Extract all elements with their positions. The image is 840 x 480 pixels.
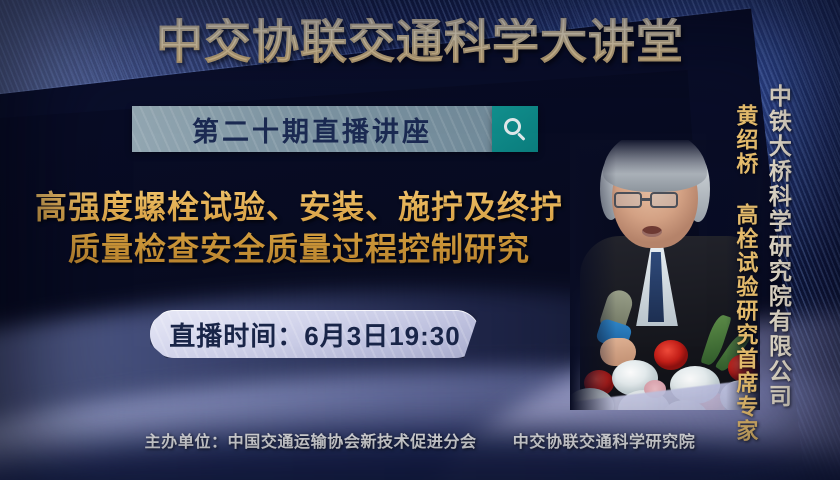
- speaker-photo: [570, 140, 760, 410]
- livestream-promo-poster: 中交协联交通科学大讲堂 第二十期直播讲座 高强度螺栓试验、安装、施拧及终拧 质量…: [0, 0, 840, 480]
- search-button[interactable]: [492, 106, 538, 152]
- organizer-prefix: 主办单位：中国交通运输协会新技术促进分会: [145, 434, 477, 451]
- headline-line-1: 高强度螺栓试验、安装、施拧及终拧: [35, 189, 563, 225]
- headline-line-2: 质量检查安全质量过程控制研究: [6, 228, 592, 270]
- speaker-name-role: 黄绍桥 高栓试验研究首席专家: [734, 104, 757, 443]
- organizer-suffix: 中交协联交通科学研究院: [513, 434, 696, 451]
- organizer-line: 主办单位：中国交通运输协会新技术促进分会 中交协联交通科学研究院: [0, 428, 840, 452]
- speaker-glasses-right: [650, 192, 678, 208]
- lecture-headline: 高强度螺栓试验、安装、施拧及终拧 质量检查安全质量过程控制研究: [6, 186, 592, 270]
- session-label-bar: 第二十期直播讲座: [132, 106, 492, 152]
- photo-fade-left: [570, 140, 616, 410]
- broadcast-time-text: 直播时间：6月3日19:30: [169, 316, 460, 353]
- speaker-glasses-bridge: [642, 198, 650, 201]
- session-label: 第二十期直播讲座: [192, 110, 432, 149]
- broadcast-time-badge: 直播时间：6月3日19:30: [150, 310, 480, 358]
- search-icon: [504, 118, 526, 140]
- speaker-mouth: [642, 226, 662, 237]
- speaker-organization: 中铁大桥科学研究院有限公司: [766, 84, 790, 409]
- speaker-glasses-left: [614, 192, 642, 208]
- page-title: 中交协联交通科学大讲堂: [0, 18, 840, 65]
